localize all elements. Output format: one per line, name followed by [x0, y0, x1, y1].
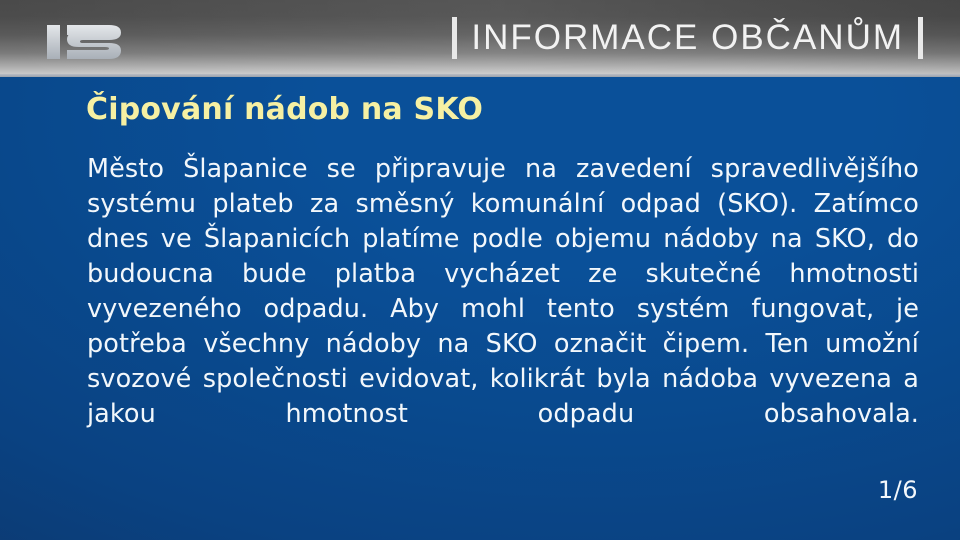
header-left-divider-bar: [452, 17, 457, 59]
header-title: INFORMACE OBČANŮM: [471, 17, 904, 59]
header-title-group: INFORMACE OBČANŮM: [452, 17, 923, 59]
header-right-divider-bar: [918, 17, 923, 59]
page-indicator: 1/6: [878, 476, 918, 504]
header-band: INFORMACE OBČANŮM: [0, 0, 960, 76]
slide-title: Čipování nádob na SKO: [86, 92, 483, 127]
is-logo-icon: [47, 23, 125, 61]
header-baseline-rule: [0, 74, 960, 77]
slide-body-paragraph: Město Šlapanice se připravuje na zaveden…: [87, 152, 919, 467]
slide-canvas: INFORMACE OBČANŮM Čipování nádob na SKO …: [0, 0, 960, 540]
